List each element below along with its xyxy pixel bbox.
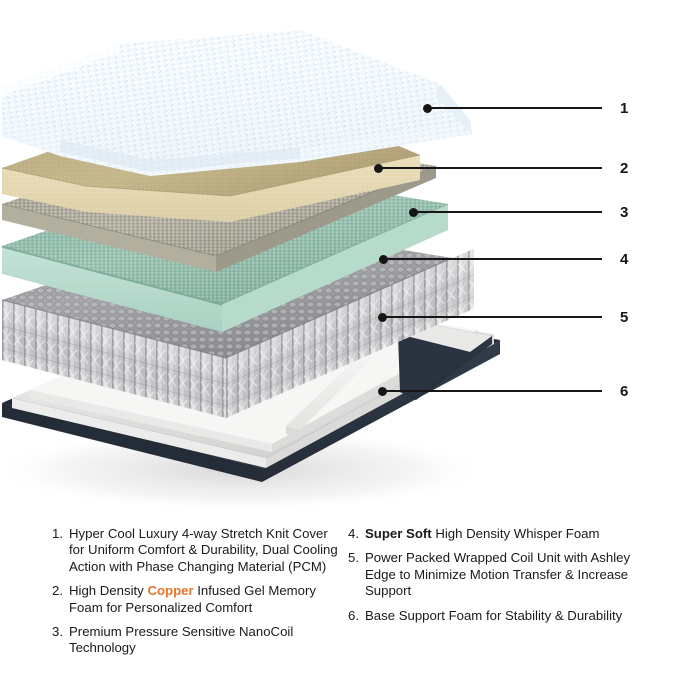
legend-marker-6: 6. bbox=[348, 608, 365, 624]
legend-text-1: Hyper Cool Luxury 4-way Stretch Knit Cov… bbox=[69, 526, 342, 575]
legend-marker-4: 4. bbox=[348, 526, 365, 542]
callout-number-1: 1 bbox=[620, 101, 628, 116]
callout-line-2 bbox=[378, 167, 602, 169]
callout-line-3 bbox=[413, 211, 602, 213]
legend-item-6: 6. Base Support Foam for Stability & Dur… bbox=[348, 608, 648, 624]
callout-number-3: 3 bbox=[620, 205, 628, 220]
legend-text-6: Base Support Foam for Stability & Durabi… bbox=[365, 608, 648, 624]
legend-item-1: 1. Hyper Cool Luxury 4-way Stretch Knit … bbox=[52, 526, 342, 575]
legend-marker-3: 3. bbox=[52, 624, 69, 640]
legend-text-2: High Density Copper Infused Gel Memory F… bbox=[69, 583, 342, 616]
callout-line-5 bbox=[382, 316, 602, 318]
legend-text-5: Power Packed Wrapped Coil Unit with Ashl… bbox=[365, 550, 648, 599]
legend-column-right: 4. Super Soft High Density Whisper Foam … bbox=[348, 526, 648, 632]
legend-bold-super-soft: Super Soft bbox=[365, 526, 432, 541]
legend-marker-1: 1. bbox=[52, 526, 69, 542]
legend-item-4: 4. Super Soft High Density Whisper Foam bbox=[348, 526, 648, 542]
callout-number-4: 4 bbox=[620, 252, 628, 267]
mattress-exploded-diagram: 1 2 3 4 5 6 bbox=[0, 0, 700, 520]
callout-number-6: 6 bbox=[620, 384, 628, 399]
legend-marker-5: 5. bbox=[348, 550, 365, 566]
callout-number-5: 5 bbox=[620, 310, 628, 325]
legend-item-5: 5. Power Packed Wrapped Coil Unit with A… bbox=[348, 550, 648, 599]
legend: 1. Hyper Cool Luxury 4-way Stretch Knit … bbox=[0, 520, 700, 700]
callout-line-1 bbox=[427, 107, 602, 109]
mattress-construction-infographic: 1 2 3 4 5 6 1. Hyper Cool Luxury 4-way S… bbox=[0, 0, 700, 700]
legend-item-2: 2. High Density Copper Infused Gel Memor… bbox=[52, 583, 342, 616]
legend-text-3: Premium Pressure Sensitive NanoCoil Tech… bbox=[69, 624, 342, 657]
legend-column-left: 1. Hyper Cool Luxury 4-way Stretch Knit … bbox=[52, 526, 342, 665]
legend-item-3: 3. Premium Pressure Sensitive NanoCoil T… bbox=[52, 624, 342, 657]
callout-line-6 bbox=[382, 390, 602, 392]
callout-line-4 bbox=[383, 258, 602, 260]
legend-highlight-copper: Copper bbox=[147, 583, 193, 598]
legend-text-4: Super Soft High Density Whisper Foam bbox=[365, 526, 648, 542]
callout-number-2: 2 bbox=[620, 161, 628, 176]
legend-marker-2: 2. bbox=[52, 583, 69, 599]
